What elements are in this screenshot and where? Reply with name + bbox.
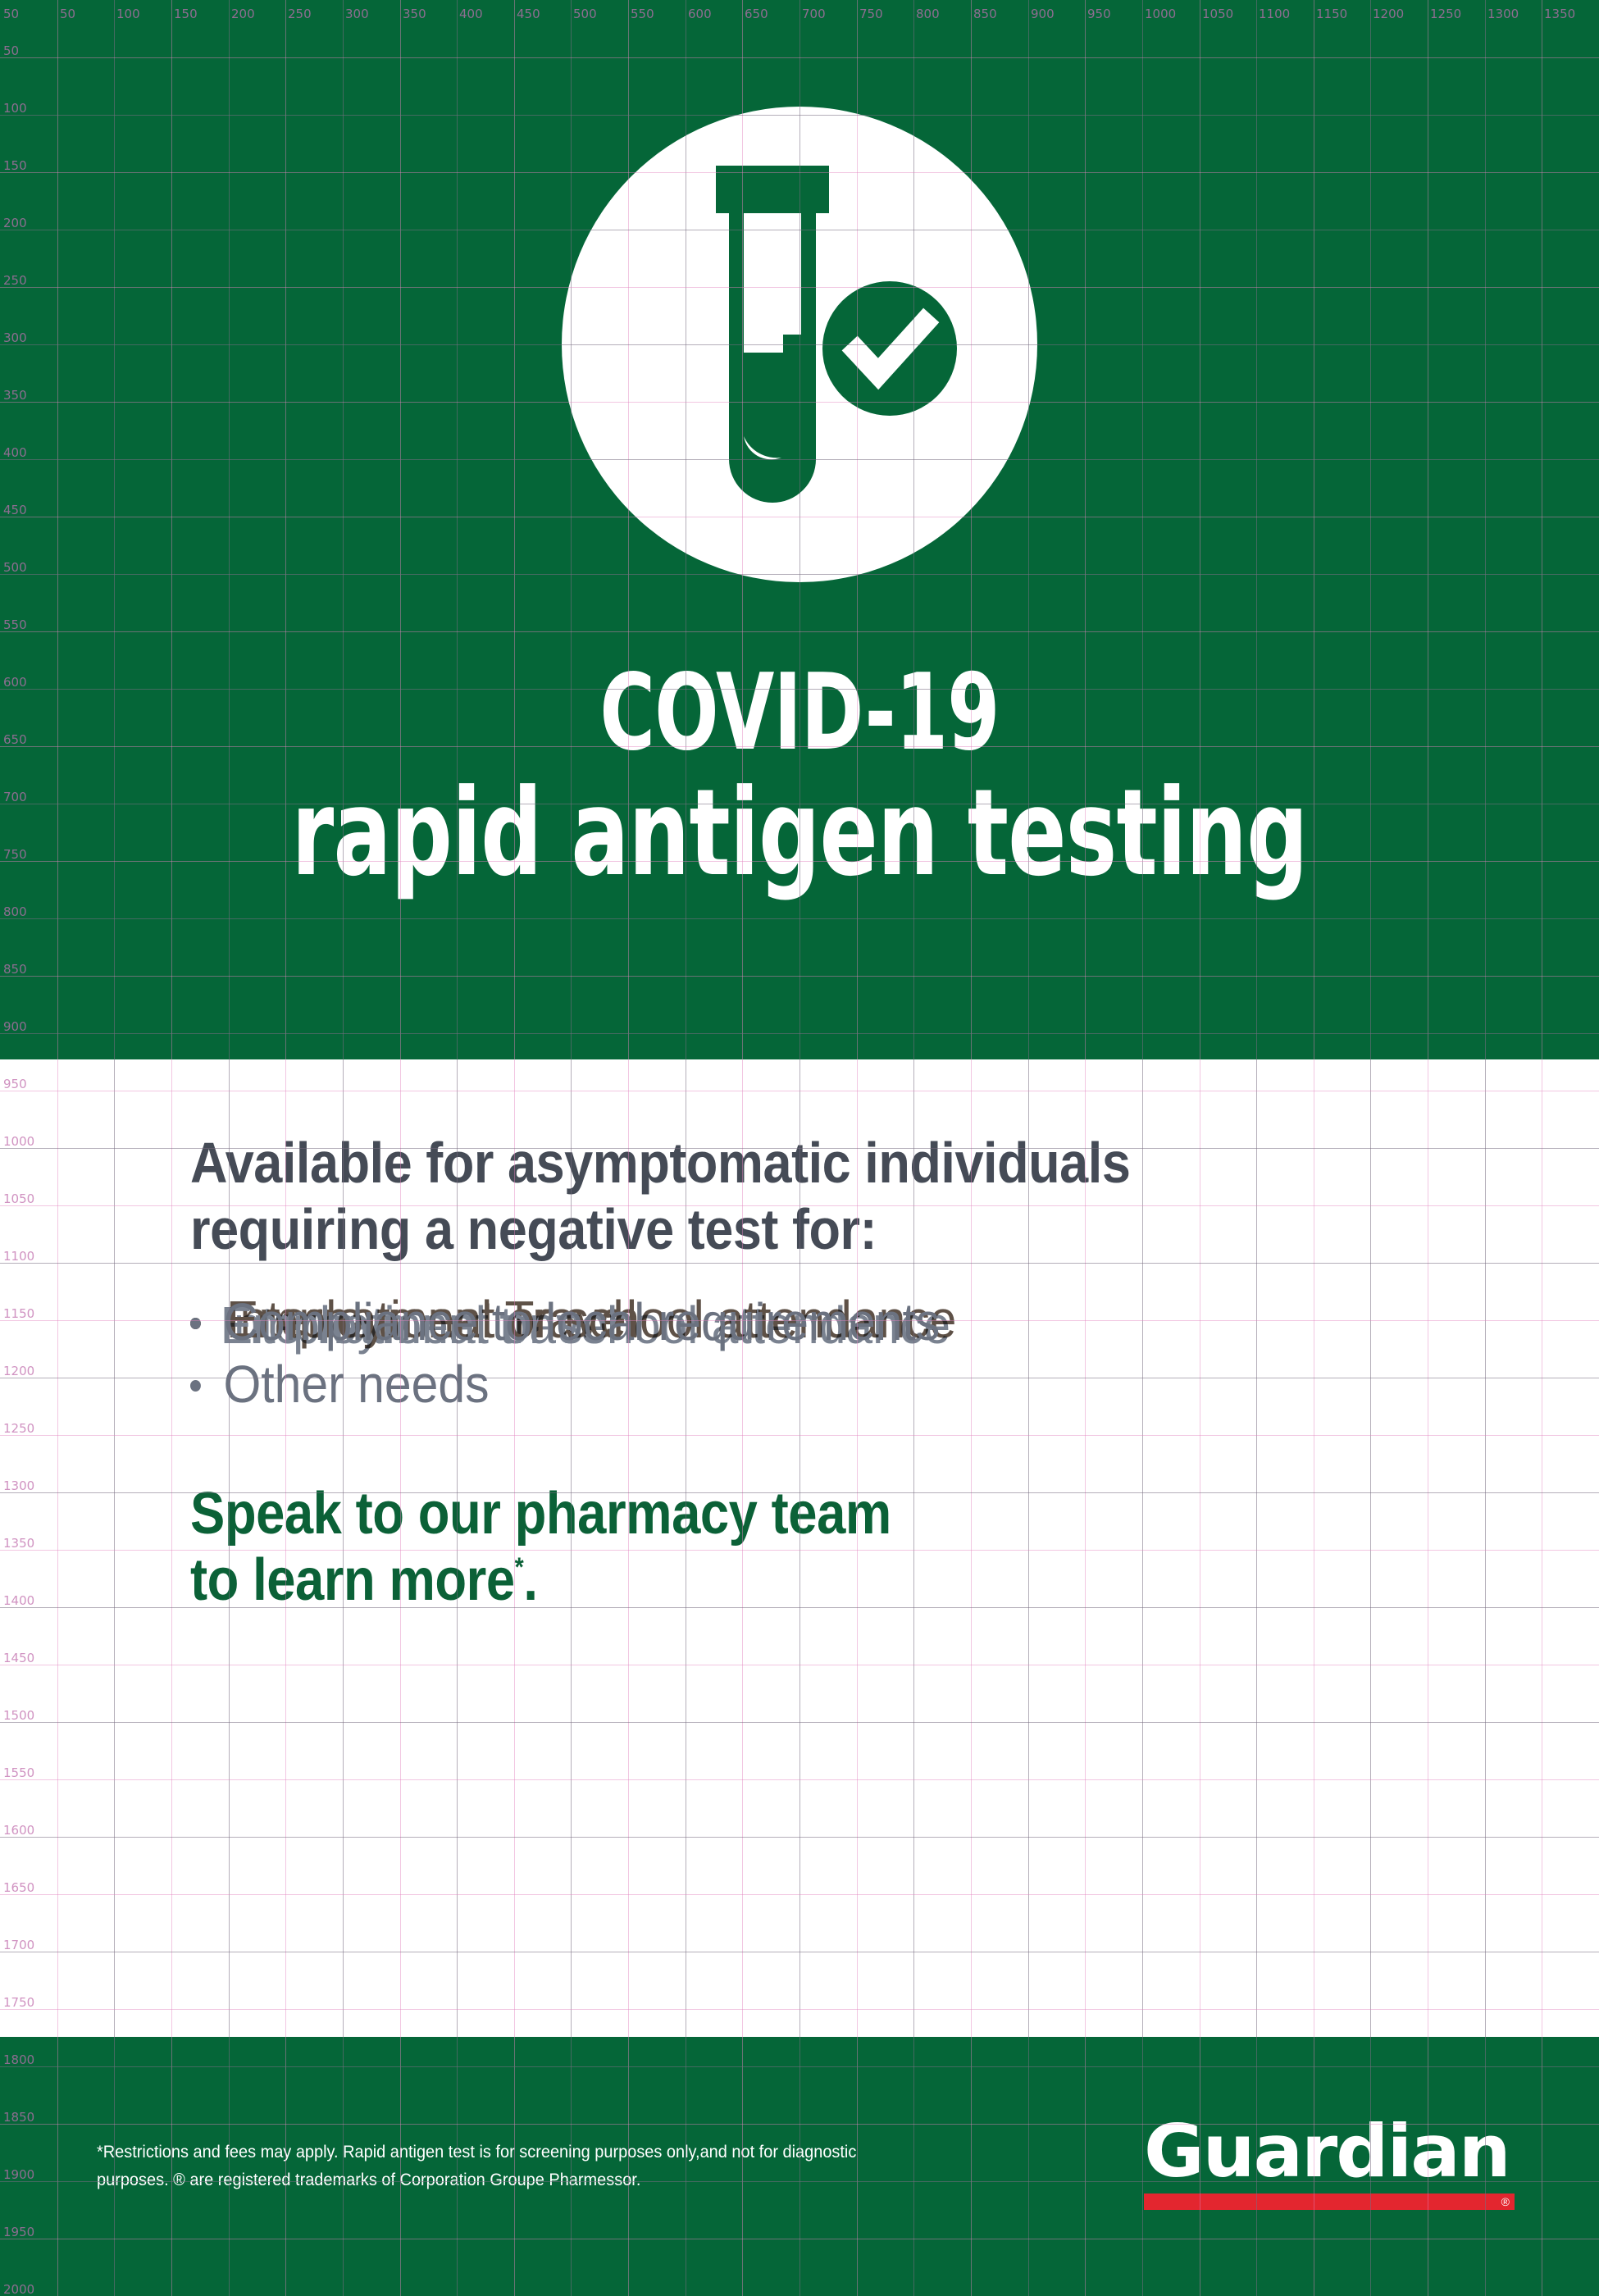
test-tube-with-checkmark-icon (562, 107, 1037, 582)
legal-disclaimer: *Restrictions and fees may apply. Rapid … (97, 2139, 884, 2194)
lede-line-2: requiring a negative test for: (190, 1196, 1460, 1263)
disclaimer-line-1: *Restrictions and fees may apply. Rapid … (97, 2139, 884, 2166)
lede-line-1: Available for asymptomatic individuals (190, 1130, 1460, 1196)
list-item: Other needs (190, 1358, 1491, 1410)
guardian-logo-bar: ® (1144, 2193, 1515, 2210)
cta-period: . (523, 1547, 537, 1613)
headline-line-2: rapid antigen testing (160, 772, 1439, 895)
poster-headline: COVID-19 rapid antigen testing (0, 660, 1599, 894)
bullet-dot-icon (190, 1380, 201, 1392)
call-to-action: Speak to our pharmacy team to learn more… (190, 1481, 1417, 1613)
body-content: Available for asymptomatic individuals r… (190, 1130, 1469, 1614)
lede-paragraph: Available for asymptomatic individuals r… (190, 1130, 1460, 1263)
logo-red-bar (1144, 2193, 1515, 2210)
eligibility-bullet-list: International Travel International trave… (190, 1296, 1469, 1410)
guardian-wordmark: Guardian (1144, 2117, 1528, 2186)
bullet-text: Other needs (223, 1355, 489, 1414)
poster-canvas: COVID-19 rapid antigen testing Available… (0, 0, 1599, 2296)
headline-line-1: COVID-19 (160, 660, 1439, 768)
bullet-text: Compliance to local requirements (223, 1292, 940, 1351)
guardian-logo: Guardian ® (1144, 2117, 1521, 2210)
registered-trademark-icon: ® (1501, 2194, 1510, 2209)
disclaimer-line-2: purposes. ® are registered trademarks of… (97, 2166, 884, 2194)
cta-line-2: to learn more*. (190, 1547, 1417, 1614)
cta-line-2-text: to learn more (190, 1547, 515, 1613)
list-item: Compliance to local requirements (190, 1296, 1491, 1348)
bullet-dot-icon (190, 1318, 201, 1329)
cta-line-1: Speak to our pharmacy team (190, 1481, 1417, 1547)
cta-asterisk: * (515, 1552, 524, 1582)
